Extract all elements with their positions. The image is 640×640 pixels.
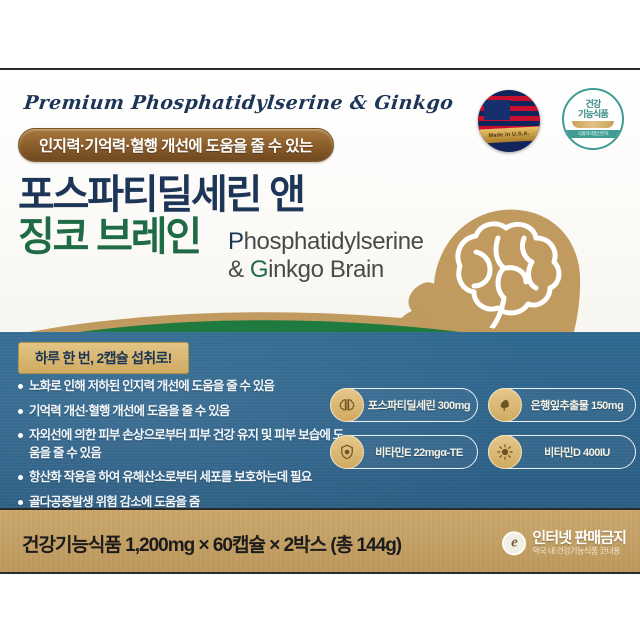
ingredient-badge: 은행잎추출물 150mg bbox=[488, 388, 636, 422]
benefit-item-text: 기억력 개선·혈행 개선에 도움을 줄 수 있음 bbox=[29, 403, 230, 421]
bullet-dot-icon bbox=[18, 433, 23, 438]
ingredient-label: 은행잎추출물 150mg bbox=[523, 397, 635, 413]
e-mark-icon: e bbox=[502, 531, 526, 555]
benefit-tagline-pill: 인지력·기억력·혈행 개선에 도움을 줄 수 있는 bbox=[18, 128, 334, 162]
ginkgo-leaf-icon bbox=[488, 388, 522, 422]
benefit-item-text: 노화로 인해 저하된 인지력 개선에 도움을 줄 수 있음 bbox=[29, 378, 274, 396]
ingredient-badge: 비타민E 22mgα-TE bbox=[330, 435, 478, 469]
benefit-item: 노화로 인해 저하된 인지력 개선에 도움을 줄 수 있음 bbox=[16, 378, 346, 396]
benefit-item: 항산화 작용을 하여 유해산소로부터 세포를 보호하는데 필요 bbox=[16, 469, 346, 487]
no-online-main-text: 인터넷 판매금지 bbox=[532, 530, 626, 547]
ingredient-badge: 비타민D 400IU bbox=[488, 435, 636, 469]
ingredient-label: 포스파티딜세린 300mg bbox=[365, 397, 477, 413]
english-cap-p: P bbox=[228, 228, 244, 255]
benefits-list: 노화로 인해 저하된 인지력 개선에 도움을 줄 수 있음기억력 개선·혈행 개… bbox=[16, 378, 346, 519]
bullet-dot-icon bbox=[18, 475, 23, 480]
health-functional-food-seal: 건강 기능식품 식품의약품안전처 bbox=[562, 88, 624, 150]
seal-authority-text: 식품의약품안전처 bbox=[564, 130, 622, 138]
seal-swoosh bbox=[572, 121, 614, 128]
premium-script-title: Premium Phosphatidylserine & Ginkgo bbox=[23, 92, 455, 114]
product-package-photo: Premium Phosphatidylserine & Ginkgo 인지력·… bbox=[0, 68, 640, 574]
sun-icon bbox=[488, 435, 522, 469]
benefit-item-text: 항산화 작용을 하여 유해산소로부터 세포를 보호하는데 필요 bbox=[29, 469, 311, 487]
dosage-instruction-text: 하루 한 번, 2캡슐 섭취로! bbox=[35, 350, 172, 366]
bullet-dot-icon bbox=[18, 384, 23, 389]
seal-line-2: 기능식품 bbox=[578, 110, 608, 120]
ingredient-badge: 포스파티딜세린 300mg bbox=[330, 388, 478, 422]
benefit-item: 기억력 개선·혈행 개선에 도움을 줄 수 있음 bbox=[16, 403, 346, 421]
package-front-face: Premium Phosphatidylserine & Ginkgo 인지력·… bbox=[0, 70, 640, 572]
package-bottom-bar: 건강기능식품 1,200mg × 60캡슐 × 2박스 (총 144g) e 인… bbox=[0, 508, 640, 574]
brain-icon bbox=[330, 388, 364, 422]
shield-icon bbox=[330, 435, 364, 469]
made-in-usa-text: Made in U.S.A. bbox=[488, 131, 529, 139]
benefit-tagline-text: 인지력·기억력·혈행 개선에 도움을 줄 수 있는 bbox=[39, 134, 313, 156]
bullet-dot-icon bbox=[18, 500, 23, 505]
ingredient-badge-grid: 포스파티딜세린 300mg은행잎추출물 150mg비타민E 22mgα-TE비타… bbox=[330, 388, 636, 469]
product-spec-text: 건강기능식품 1,200mg × 60캡슐 × 2박스 (총 144g) bbox=[22, 530, 401, 557]
korean-name-line-1: 포스파티딜세린 앤 bbox=[18, 174, 304, 216]
ingredient-label: 비타민D 400IU bbox=[523, 444, 635, 460]
us-flag-canton bbox=[484, 100, 510, 120]
made-in-usa-badge: Made in U.S.A. bbox=[478, 90, 540, 152]
no-online-sale-mark: e 인터넷 판매금지 약국 내 건강기능식품 코너용 bbox=[502, 530, 626, 555]
ingredient-label: 비타민E 22mgα-TE bbox=[365, 444, 477, 460]
usa-ribbon: Made in U.S.A. bbox=[478, 126, 540, 144]
benefit-item: 자외선에 의한 피부 손상으로부터 피부 건강 유지 및 피부 보습에 도움을 … bbox=[16, 427, 346, 462]
dosage-instruction-box: 하루 한 번, 2캡슐 섭취로! bbox=[18, 342, 189, 374]
benefit-item-text: 자외선에 의한 피부 손상으로부터 피부 건강 유지 및 피부 보습에 도움을 … bbox=[29, 427, 346, 462]
no-online-text-group: 인터넷 판매금지 약국 내 건강기능식품 코너용 bbox=[532, 530, 626, 555]
bullet-dot-icon bbox=[18, 409, 23, 414]
no-online-sub-text: 약국 내 건강기능식품 코너용 bbox=[532, 547, 626, 556]
